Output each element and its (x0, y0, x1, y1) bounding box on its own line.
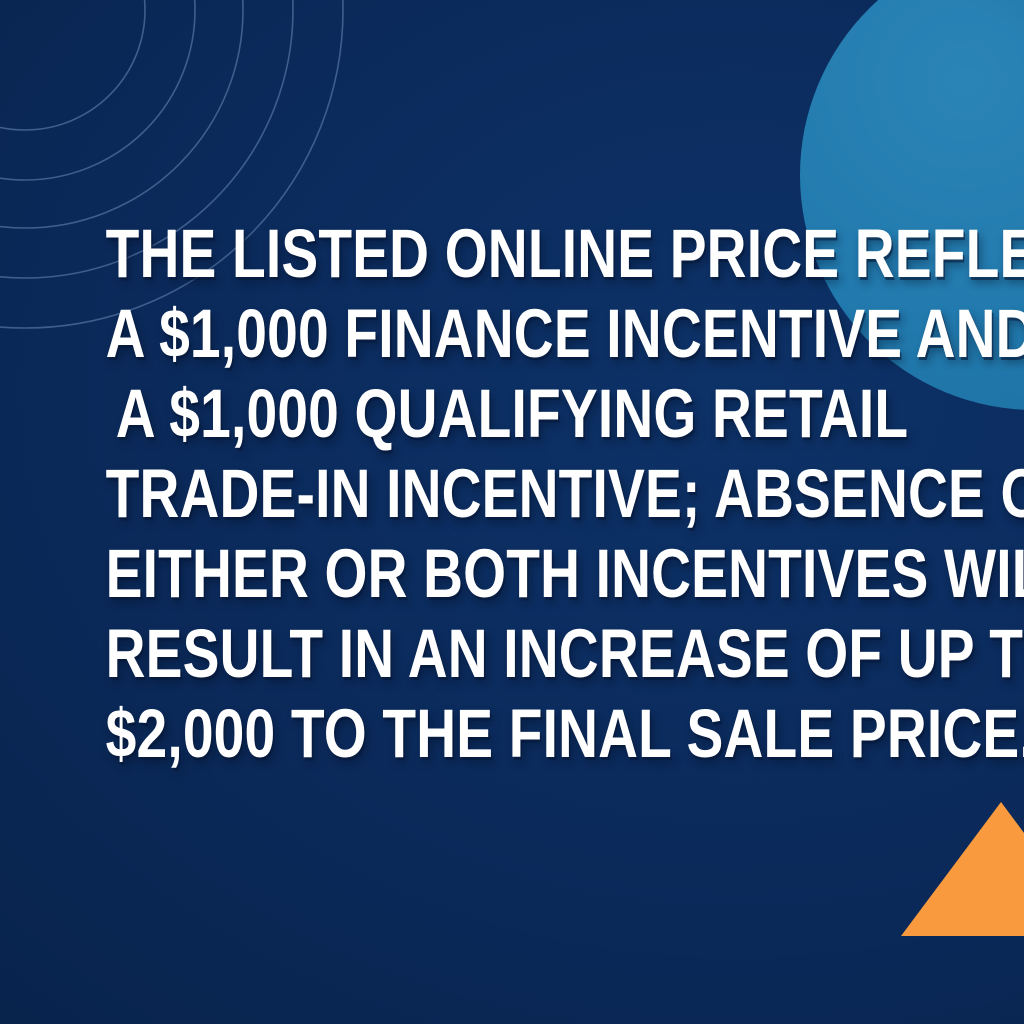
disclaimer-line-6: RESULT IN AN INCREASE OF UP TO (106, 614, 919, 694)
disclaimer-line-5: EITHER OR BOTH INCENTIVES WILL (106, 534, 919, 614)
disclaimer-line-2: A $1,000 FINANCE INCENTIVE AND (106, 294, 919, 374)
disclaimer-line-7: $2,000 TO THE FINAL SALE PRICE. (106, 694, 919, 774)
disclaimer-line-1: THE LISTED ONLINE PRICE REFLECTS (106, 214, 919, 294)
disclaimer-headline: THE LISTED ONLINE PRICE REFLECTS A $1,00… (102, 214, 921, 774)
accent-triangle (901, 802, 1024, 936)
promo-graphic-canvas: THE LISTED ONLINE PRICE REFLECTS A $1,00… (0, 0, 1024, 1024)
disclaimer-line-3: A $1,000 QUALIFYING RETAIL (106, 374, 919, 454)
disclaimer-line-4: TRADE-IN INCENTIVE; ABSENCE OF (106, 454, 919, 534)
